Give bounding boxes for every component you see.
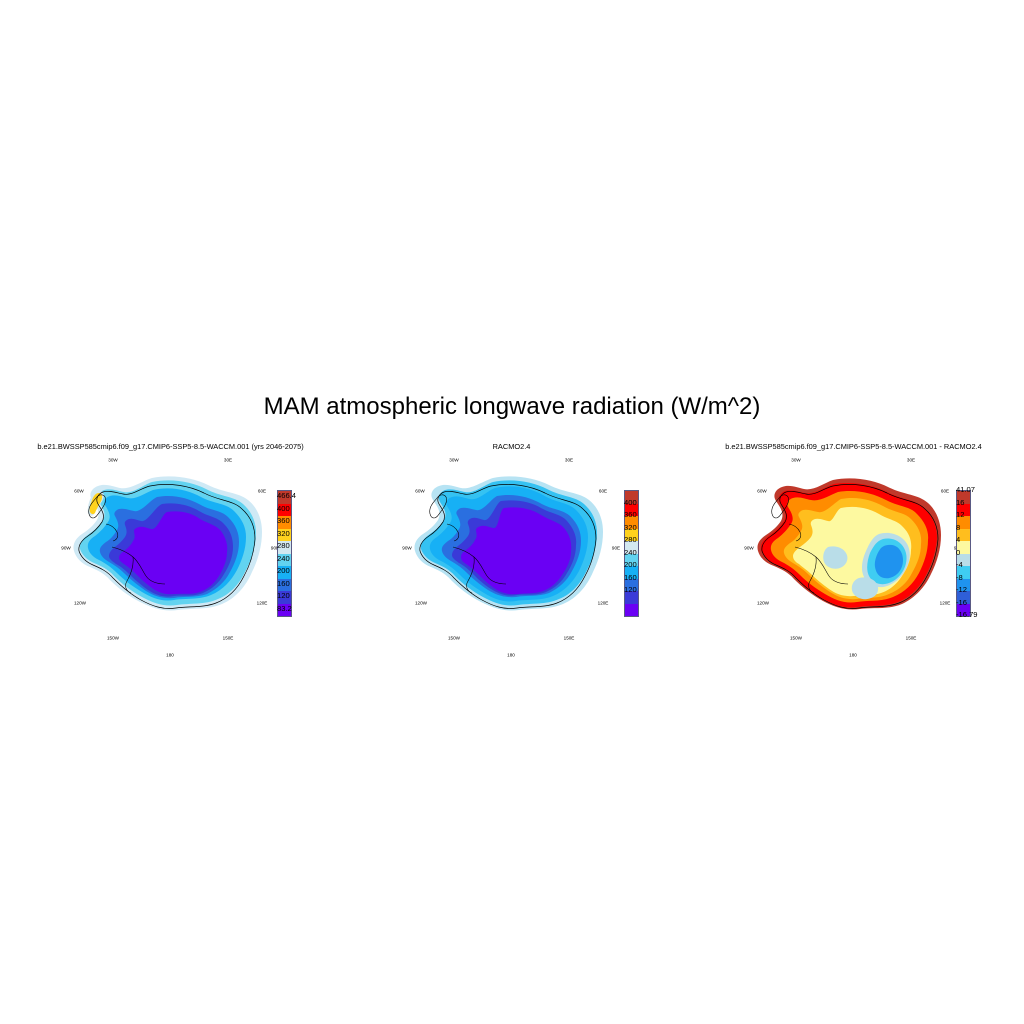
- colorbar-tick-label: 280: [624, 536, 637, 544]
- panel-title: RACMO2.4: [341, 442, 682, 451]
- panel-difference: b.e21.BWSSP585cmip6.f09_g17.CMIP6-SSP5-8…: [683, 438, 1024, 668]
- colorbar-segment: [624, 604, 639, 618]
- colorbar-tick-label: 320: [624, 524, 637, 532]
- map-antarctica-model: 30W 30E 60W 60E 90W 90E 120W 120E 150W 1…: [0, 452, 341, 652]
- colorbar-tick-label: 200: [277, 567, 290, 575]
- colorbar-tick-label: 41.07: [956, 486, 975, 494]
- colorbar-tick-label: 12: [956, 511, 964, 519]
- panel-title: b.e21.BWSSP585cmip6.f09_g17.CMIP6-SSP5-8…: [0, 442, 341, 451]
- colorbar-tick-label: 160: [624, 574, 637, 582]
- antarctica-contour-map: [683, 452, 1024, 652]
- colorbar-tick-label: 16: [956, 499, 964, 507]
- colorbar-tick-label: -12: [956, 586, 967, 594]
- colorbar-tick-label: -4: [956, 561, 963, 569]
- colorbar-tick-label: 466.4: [277, 492, 296, 500]
- colorbar-tick-label: 0: [956, 549, 960, 557]
- colorbar-tick-label: 360: [277, 517, 290, 525]
- colorbar-tick-label: 120: [277, 592, 290, 600]
- lon-label-180: 180: [507, 653, 515, 658]
- map-antarctica-difference: 30W 30E 60W 60E 90W 90E 120W 120E 150W 1…: [683, 452, 1024, 652]
- colorbar-tick-label: 120: [624, 586, 637, 594]
- map-antarctica-racmo: 30W 30E 60W 60E 90W 90E 120W 120E 150W 1…: [341, 452, 682, 652]
- colorbar-tick-label: 240: [277, 555, 290, 563]
- page-title: MAM atmospheric longwave radiation (W/m^…: [0, 393, 1024, 421]
- colorbar-tick-label: 200: [624, 561, 637, 569]
- colorbar-tick-label: -16.79: [956, 611, 978, 619]
- panel-racmo: RACMO2.4 30W 30E 60W 60E 90W 90E 120W 12…: [341, 438, 682, 668]
- colorbar-tick-label: 160: [277, 580, 290, 588]
- panel-title: b.e21.BWSSP585cmip6.f09_g17.CMIP6-SSP5-8…: [683, 442, 1024, 451]
- colorbar-tick-label: 280: [277, 542, 290, 550]
- colorbar-tick-label: 83.2: [277, 605, 292, 613]
- colorbar-tick-label: 400: [277, 505, 290, 513]
- colorbar-tick-label: 8: [956, 524, 960, 532]
- colorbar-tick-label: 4: [956, 536, 960, 544]
- lon-label-180: 180: [166, 653, 174, 658]
- lon-label-180: 180: [849, 653, 857, 658]
- colorbar-tick-label: -16: [956, 599, 967, 607]
- colorbar-tick-label: 240: [624, 549, 637, 557]
- colorbar-tick-label: 320: [277, 530, 290, 538]
- colorbar-tick-label: 360: [624, 511, 637, 519]
- colorbar-tick-label: 400: [624, 499, 637, 507]
- panel-model: b.e21.BWSSP585cmip6.f09_g17.CMIP6-SSP5-8…: [0, 438, 341, 668]
- colorbar-tick-label: -8: [956, 574, 963, 582]
- figure-canvas: MAM atmospheric longwave radiation (W/m^…: [0, 0, 1024, 1024]
